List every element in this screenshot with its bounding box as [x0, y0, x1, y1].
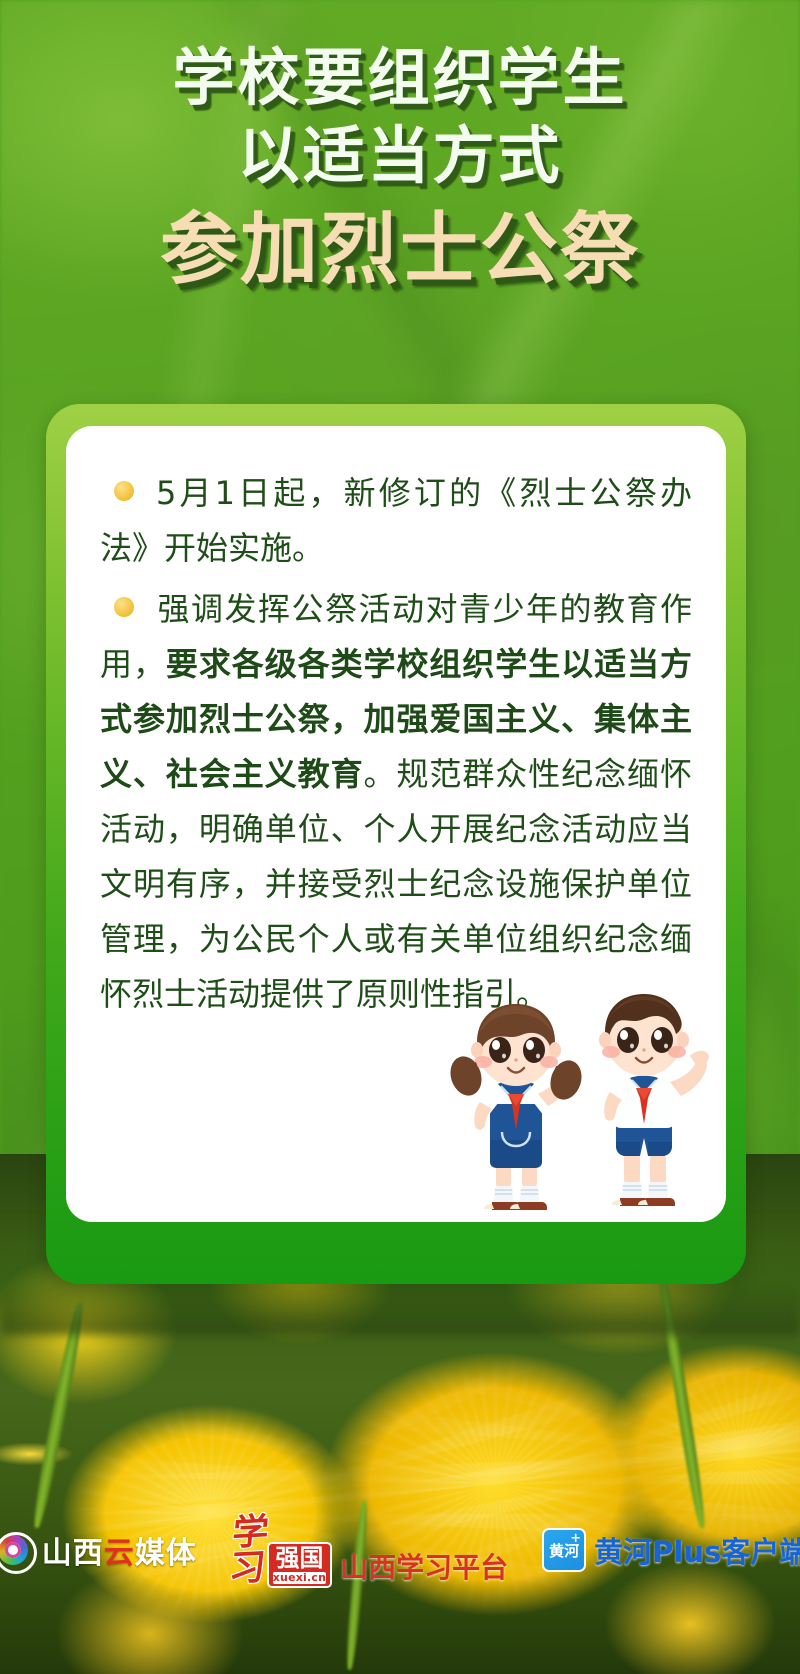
footer-logo-bar: 山西云媒体 学习 强国 xuexi.cn 山西学习平台 黄河+ 黄河Plus客户…: [0, 1524, 800, 1576]
content-card: 5月1日起，新修订的《烈士公祭办法》开始实施。 强调发挥公祭活动对青少年的教育作…: [46, 404, 746, 1284]
huanghe-plus-label: 黄河Plus客户端: [594, 1529, 800, 1571]
bullet-dot-icon: [114, 597, 134, 617]
logo-huanghe-plus[interactable]: 黄河+ 黄河Plus客户端: [544, 1529, 800, 1571]
poster-root: 学校要组织学生 以适当方式 参加烈士公祭 5月1日起，新修订的《烈士公祭办法》开…: [0, 0, 800, 1674]
saluting-students-illustration: [446, 954, 714, 1222]
headline-block: 学校要组织学生 以适当方式 参加烈士公祭: [0, 46, 800, 290]
logo-shanxi-yun-media-text: 山西云媒体: [42, 1528, 197, 1572]
headline-line-3: 参加烈士公祭: [0, 210, 800, 290]
paragraph-1-text: 5月1日起，新修订的《烈士公祭办法》开始实施。: [100, 474, 692, 567]
xuexi-badge-cn: 强国: [275, 1546, 323, 1571]
paragraph-1: 5月1日起，新修订的《烈士公祭办法》开始实施。: [100, 466, 692, 576]
logo-shanxi-yun-media[interactable]: 山西云媒体: [0, 1528, 197, 1572]
content-card-inner: 5月1日起，新修订的《烈士公祭办法》开始实施。 强调发挥公祭活动对青少年的教育作…: [66, 426, 726, 1222]
girl-student-saluting: [446, 990, 586, 1222]
xuexi-script-text: 学习: [227, 1513, 270, 1587]
spiral-icon: [0, 1535, 28, 1565]
logo-xuexi-qiangguo[interactable]: 学习 强国 xuexi.cn 山西学习平台: [231, 1514, 508, 1586]
headline-line-1: 学校要组织学生: [0, 46, 800, 110]
xuexi-badge: 强国 xuexi.cn: [269, 1544, 330, 1586]
xuexi-logo-mark: 学习 强国 xuexi.cn: [231, 1514, 330, 1586]
xuexi-badge-url: xuexi.cn: [273, 1572, 326, 1584]
huanghe-icon-plus: +: [570, 1531, 581, 1546]
xuexi-platform-label: 山西学习平台: [340, 1546, 508, 1586]
body-text: 5月1日起，新修订的《烈士公祭办法》开始实施。 强调发挥公祭活动对青少年的教育作…: [100, 466, 692, 1022]
bullet-dot-icon: [114, 481, 134, 501]
huanghe-app-icon: 黄河+: [544, 1530, 584, 1570]
logo-text-after: 媒体: [135, 1536, 197, 1571]
logo-text-accent: 云: [104, 1536, 135, 1571]
logo-text-before: 山西: [42, 1536, 104, 1571]
headline-line-2: 以适当方式: [0, 124, 800, 188]
boy-student-saluting: [574, 982, 714, 1222]
